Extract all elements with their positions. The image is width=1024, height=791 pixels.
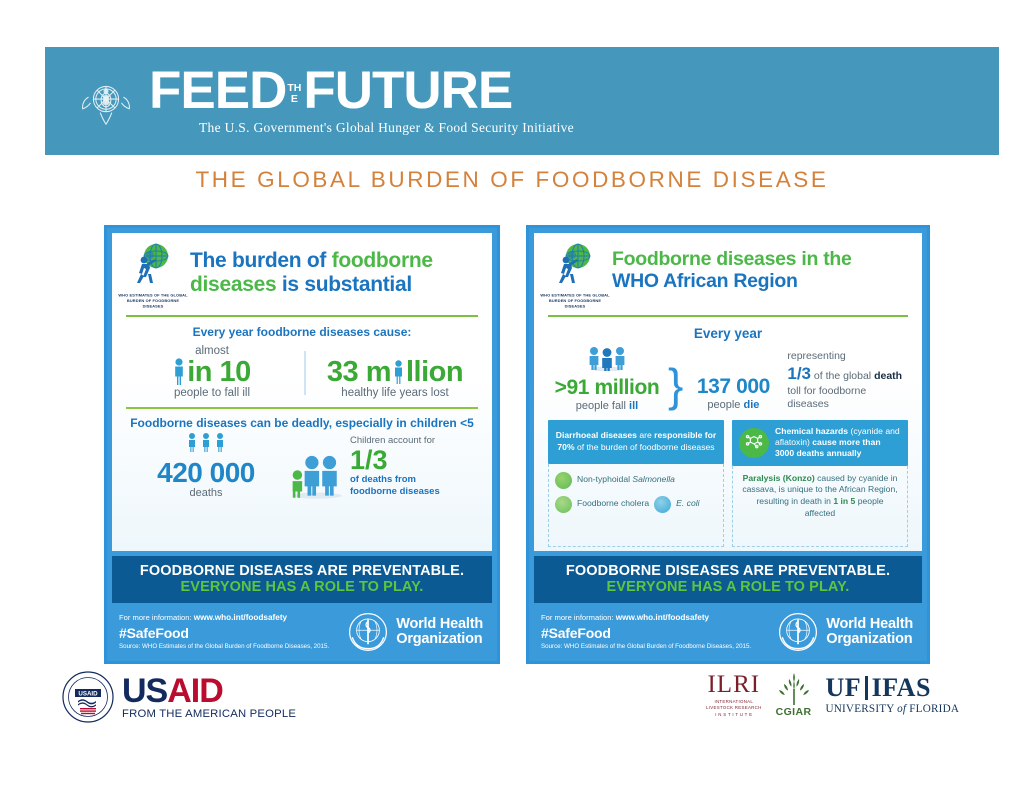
uf-word: UF [825, 675, 861, 701]
chemical-column: Chemical hazards (cyanide and aflatoxin)… [732, 420, 908, 547]
ecoli-label: E. coli [676, 498, 699, 510]
credit-more-info: For more information: www.who.int/foodsa… [119, 613, 329, 623]
credit-text-block: For more information: www.who.int/foodsa… [119, 613, 329, 651]
three-people-icon [581, 345, 633, 371]
children-fraction-block: Children account for 1/3 of deaths from … [350, 436, 440, 498]
pathogen-cholera-ecoli: Foodborne cholera E. coli [555, 496, 717, 513]
stat-33m-suffix: llion [406, 357, 463, 387]
children-fraction-value: 1/3 [350, 447, 440, 474]
uf-ifas-word: UF IFAS [825, 675, 959, 701]
box-chemical-hazards: Chemical hazards (cyanide and aflatoxin)… [732, 420, 908, 466]
representing-line-2: 1/3 of the global death [787, 363, 908, 384]
ill-value: >91 million [548, 376, 666, 400]
person-figure-icon [393, 360, 404, 384]
uf-sub-2: of [897, 703, 906, 715]
diarrhoeal-column: Diarrhoeal diseases are responsible for … [548, 420, 724, 547]
who-name-block: World Health Organization [396, 617, 483, 647]
deaths-label: deaths [126, 487, 286, 499]
cholera-label: Foodborne cholera [577, 498, 649, 510]
poster-right-body: WHO ESTIMATES OF THE GLOBAL BURDEN OF FO… [534, 233, 922, 551]
family-figures-icon [286, 453, 344, 499]
usaid-word: USAID [122, 674, 296, 708]
ilri-sub-3: I N S T I T U T E [706, 712, 762, 718]
representing-text-a: of the global [811, 370, 874, 382]
wordmark-the: TH E [287, 83, 301, 104]
ifas-word: IFAS [872, 675, 931, 701]
credit-text-block: For more information: www.who.int/foodsa… [541, 613, 751, 651]
poster-right-head: WHO ESTIMATES OF THE GLOBAL BURDEN OF FO… [548, 243, 908, 306]
three-children-icon [182, 432, 230, 452]
poster-right-credits: For more information: www.who.int/foodsa… [529, 603, 927, 661]
person-carrying-globe-icon [551, 243, 599, 293]
children-fraction-sub-1: of deaths from [350, 474, 440, 485]
who-mark-caption: WHO ESTIMATES OF THE GLOBAL BURDEN OF FO… [117, 294, 190, 310]
representing-line-3: toll for foodborne diseases [787, 385, 908, 411]
die-label-emph: die [743, 399, 759, 411]
curly-brace-icon: } [668, 367, 683, 412]
representing-text-b: death [874, 370, 902, 382]
preventable-line-1: FOODBORNE DISEASES ARE PREVENTABLE. [116, 563, 488, 579]
wordmark-feed: FEED [149, 66, 286, 116]
credit-hashtag: #SafeFood [541, 625, 751, 643]
who-name-line-2: Organization [826, 632, 913, 647]
die-value: 137 000 [685, 375, 781, 399]
stat-one-in-ten-value: in 10 [126, 357, 298, 387]
uf-ifas-logo: UF IFAS UNIVERSITY of FLORIDA [825, 675, 959, 715]
title-segment-3: diseases [190, 273, 276, 296]
page-title: THE GLOBAL BURDEN OF FOODBORNE DISEASE [0, 167, 1024, 193]
credit-info-url[interactable]: www.who.int/foodsafety [616, 613, 709, 622]
who-mark-caption: WHO ESTIMATES OF THE GLOBAL BURDEN OF FO… [539, 294, 612, 310]
stats-divider [304, 351, 306, 395]
person-figure-icon [173, 358, 185, 385]
title-segment-4: is substantial [276, 273, 412, 296]
representing-line-1: representing [787, 350, 908, 363]
poster-global-burden: WHO ESTIMATES OF THE GLOBAL BURDEN OF FO… [104, 225, 500, 664]
stat-people-die: 137 000 people die [685, 375, 781, 412]
credit-info-label: For more information: [119, 613, 194, 622]
stats-row-primary: almost in 10 people to fall ill 33 m [126, 345, 478, 399]
credit-more-info: For more information: www.who.int/foodsa… [541, 613, 751, 623]
cgiar-wheat-icon [777, 673, 811, 705]
salmonella-icon [555, 472, 572, 489]
cgiar-logo: CGIAR [776, 673, 812, 718]
uf-sub-1: UNIVERSITY [825, 703, 897, 715]
poster-african-region: WHO ESTIMATES OF THE GLOBAL BURDEN OF FO… [526, 225, 930, 664]
cholera-icon [555, 496, 572, 513]
uf-subtitle: UNIVERSITY of FLORIDA [825, 703, 959, 715]
usaid-aid: AID [167, 672, 223, 710]
stat-33m-prefix: 33 m [327, 357, 391, 387]
ilri-word: ILRI [706, 672, 762, 697]
credit-source: Source: WHO Estimates of the Global Burd… [119, 643, 329, 651]
stat-healthy-years-label: healthy life years lost [312, 387, 478, 399]
feed-the-future-header-banner: FEED TH E FUTURE The U.S. Government's G… [45, 47, 999, 155]
feed-the-future-wordmark: FEED TH E FUTURE [149, 66, 574, 116]
die-label: people die [685, 399, 781, 411]
pathogen-salmonella: Non-typhoidal Salmonella [555, 472, 717, 489]
chemical-structure-icon [743, 432, 765, 454]
title-segment-1: Foodborne diseases in the [612, 248, 852, 270]
uf-divider [865, 676, 868, 700]
who-name-line-2: Organization [396, 632, 483, 647]
who-name-line-1: World Health [826, 617, 913, 632]
who-logo-right: World Health Organization [777, 611, 913, 653]
box-konzo: Paralysis (Konzo) caused by cyanide in c… [732, 466, 908, 547]
header-tagline: The U.S. Government's Global Hunger & Fo… [199, 120, 574, 136]
poster-left-subhead: Every year foodborne diseases cause: [126, 325, 478, 339]
us-government-seal-icon [75, 70, 137, 132]
children-band-head: Foodborne diseases can be deadly, especi… [126, 416, 478, 430]
deaths-value: 420 000 [126, 457, 286, 489]
poster-left-credits: For more information: www.who.int/foodsa… [107, 603, 497, 661]
feed-the-future-lockup: FEED TH E FUTURE The U.S. Government's G… [149, 66, 574, 135]
stat-fall-ill-label: people to fall ill [126, 387, 298, 399]
preventable-line-2: EVERYONE HAS A ROLE TO PLAY. [116, 579, 488, 595]
pathogen-list: Non-typhoidal Salmonella Foodborne chole… [548, 464, 724, 547]
person-carrying-globe-icon [129, 243, 177, 293]
ilri-logo: ILRI INTERNATIONAL LIVESTOCK RESEARCH I … [706, 672, 762, 718]
info-boxes-row: Diarrhoeal diseases are responsible for … [548, 420, 908, 547]
title-segment-2: WHO African Region [612, 270, 798, 292]
who-logo-left: World Health Organization [347, 611, 483, 653]
usaid-tagline: FROM THE AMERICAN PEOPLE [122, 709, 296, 720]
diarrhoeal-text: Diarrhoeal diseases are responsible for … [555, 430, 717, 453]
ill-label-text: people fall [576, 400, 629, 412]
konzo-emph: 1 in 5 [833, 496, 855, 506]
usaid-logo: USAID USAID FROM THE AMERICAN PEOPLE [62, 671, 296, 723]
poster-right-subhead: Every year [548, 326, 908, 341]
representing-fraction: 1/3 [787, 364, 811, 383]
svg-text:USAID: USAID [78, 690, 98, 697]
usaid-seal-icon: USAID [62, 671, 114, 723]
divider-green-2 [126, 407, 478, 409]
ilri-sub-2: LIVESTOCK RESEARCH [706, 705, 762, 711]
stat-in-10-text: in 10 [187, 357, 251, 387]
stat-420000-deaths: 420 000 deaths [126, 432, 286, 499]
ill-label: people fall ill [548, 400, 666, 412]
children-stats-row: 420 000 deaths [126, 432, 478, 499]
stat-people-fall-ill: >91 million people fall ill [548, 345, 666, 412]
stat-almost-label: almost [126, 345, 298, 357]
who-emblem-icon [347, 611, 389, 653]
poster-left-head: WHO ESTIMATES OF THE GLOBAL BURDEN OF FO… [126, 243, 478, 306]
usaid-wordmark: USAID FROM THE AMERICAN PEOPLE [122, 674, 296, 720]
preventable-banner-left: FOODBORNE DISEASES ARE PREVENTABLE. EVER… [112, 556, 492, 603]
who-burden-mark: WHO ESTIMATES OF THE GLOBAL BURDEN OF FO… [126, 243, 180, 306]
divider-green-1 [126, 315, 478, 317]
konzo-title: Paralysis (Konzo) [743, 473, 815, 483]
children-third-group: Children account for 1/3 of deaths from … [286, 436, 478, 498]
african-stats-row: >91 million people fall ill } 137 000 pe… [548, 345, 908, 412]
usaid-us: US [122, 672, 167, 710]
chemical-text: Chemical hazards (cyanide and aflatoxin)… [775, 426, 901, 460]
ilri-subtitle: INTERNATIONAL LIVESTOCK RESEARCH I N S T… [706, 699, 762, 718]
poster-left-body: WHO ESTIMATES OF THE GLOBAL BURDEN OF FO… [112, 233, 492, 551]
preventable-banner-right: FOODBORNE DISEASES ARE PREVENTABLE. EVER… [534, 556, 922, 603]
molecule-icon [739, 428, 769, 458]
die-label-text: people [707, 399, 743, 411]
title-segment-1: The burden of [190, 249, 332, 272]
who-burden-mark: WHO ESTIMATES OF THE GLOBAL BURDEN OF FO… [548, 243, 602, 306]
poster-left-title: The burden of foodborne diseases is subs… [190, 243, 433, 296]
credit-info-url[interactable]: www.who.int/foodsafety [194, 613, 287, 622]
uf-sub-3: FLORIDA [906, 703, 959, 715]
who-emblem-icon [777, 611, 819, 653]
salmonella-label: Non-typhoidal Salmonella [577, 474, 675, 486]
stat-33-million: 33 m llion healthy life years lost [312, 357, 478, 399]
ill-label-emph: ill [629, 400, 638, 412]
partner-logos: ILRI INTERNATIONAL LIVESTOCK RESEARCH I … [706, 672, 959, 718]
ecoli-icon [654, 496, 671, 513]
preventable-line-2: EVERYONE HAS A ROLE TO PLAY. [538, 579, 918, 595]
who-name-line-1: World Health [396, 617, 483, 632]
stat-representing-third: representing 1/3 of the global death tol… [783, 350, 908, 412]
wordmark-future: FUTURE [303, 66, 512, 116]
title-segment-2: foodborne [332, 249, 433, 272]
stat-one-in-ten: almost in 10 people to fall ill [126, 345, 298, 399]
credit-source: Source: WHO Estimates of the Global Burd… [541, 643, 751, 651]
poster-right-title: Foodborne diseases in the WHO African Re… [612, 243, 852, 293]
who-name-block: World Health Organization [826, 617, 913, 647]
divider-green-1 [548, 315, 908, 317]
cgiar-word: CGIAR [776, 706, 812, 718]
box-diarrhoeal-diseases: Diarrhoeal diseases are responsible for … [548, 420, 724, 464]
children-fraction-sub-2: foodborne diseases [350, 486, 440, 497]
credit-info-label: For more information: [541, 613, 616, 622]
credit-hashtag: #SafeFood [119, 625, 329, 643]
preventable-line-1: FOODBORNE DISEASES ARE PREVENTABLE. [538, 563, 918, 579]
stat-33-million-value: 33 m llion [312, 357, 478, 387]
